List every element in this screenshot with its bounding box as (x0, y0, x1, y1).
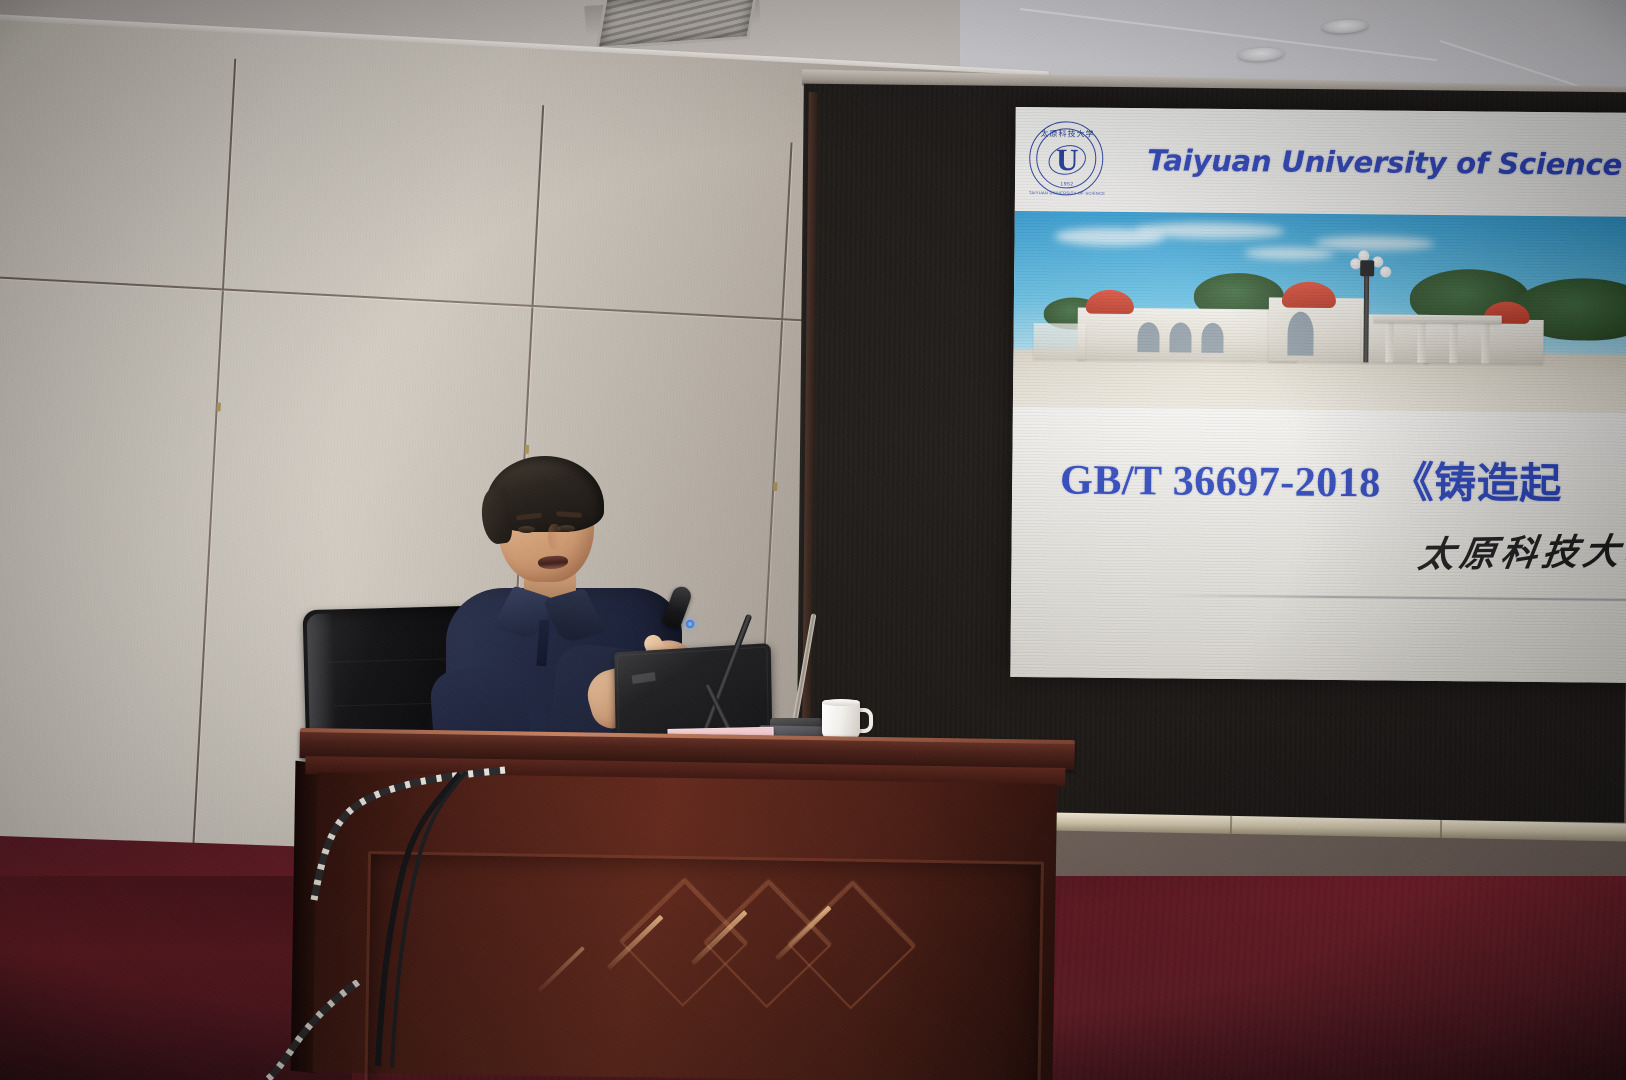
mug (822, 700, 860, 740)
university-name-text: Taiyuan University of Science (1147, 143, 1622, 182)
university-logo-icon: 太原科技大学 U 1952 TAIYUAN UNIVERSITY OF SCIE… (1029, 121, 1106, 198)
logo-chinese-name: 太原科技大学 (1029, 128, 1105, 140)
cable-floor-coil (250, 980, 370, 1080)
panel-latch (216, 402, 220, 411)
affiliation-calligraphy: 太原科技大學 (1415, 522, 1626, 578)
projection-screen: 太原科技大学 U 1952 TAIYUAN UNIVERSITY OF SCIE… (1010, 107, 1626, 683)
microphone-led-indicator (686, 620, 694, 628)
lamp-post (1363, 264, 1369, 362)
slide-header: 太原科技大学 U 1952 TAIYUAN UNIVERSITY OF SCIE… (1015, 107, 1626, 217)
slide-title-area: GB/T 36697-2018 《铸造起 太原科技大學 (1010, 407, 1626, 683)
logo-letter: U (1029, 142, 1105, 179)
nose (548, 524, 561, 550)
mug-rim (822, 699, 860, 706)
campus-photo (1013, 211, 1626, 413)
logo-arc-text: TAIYUAN UNIVERSITY OF SCIENCE AND TECHNO… (1029, 190, 1105, 196)
logo-year: 1952 (1029, 181, 1105, 188)
eye-left (518, 526, 535, 533)
lecture-hall-photo: 太原科技大学 U 1952 TAIYUAN UNIVERSITY OF SCIE… (0, 0, 1626, 1080)
panel-seam (189, 59, 237, 918)
standard-title-text: GB/T 36697-2018 《铸造起 (1060, 445, 1562, 511)
title-divider (1161, 594, 1626, 601)
panel-latch (773, 482, 777, 491)
